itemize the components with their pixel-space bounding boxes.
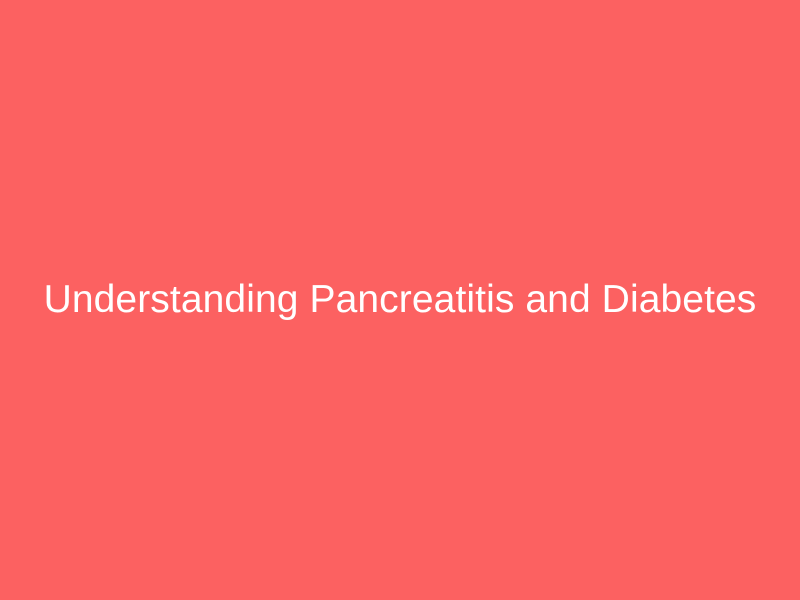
title-block: Understanding Pancreatitis and Diabetes: [0, 278, 800, 323]
page-title: Understanding Pancreatitis and Diabetes: [40, 278, 760, 323]
title-slide: Understanding Pancreatitis and Diabetes: [0, 0, 800, 600]
